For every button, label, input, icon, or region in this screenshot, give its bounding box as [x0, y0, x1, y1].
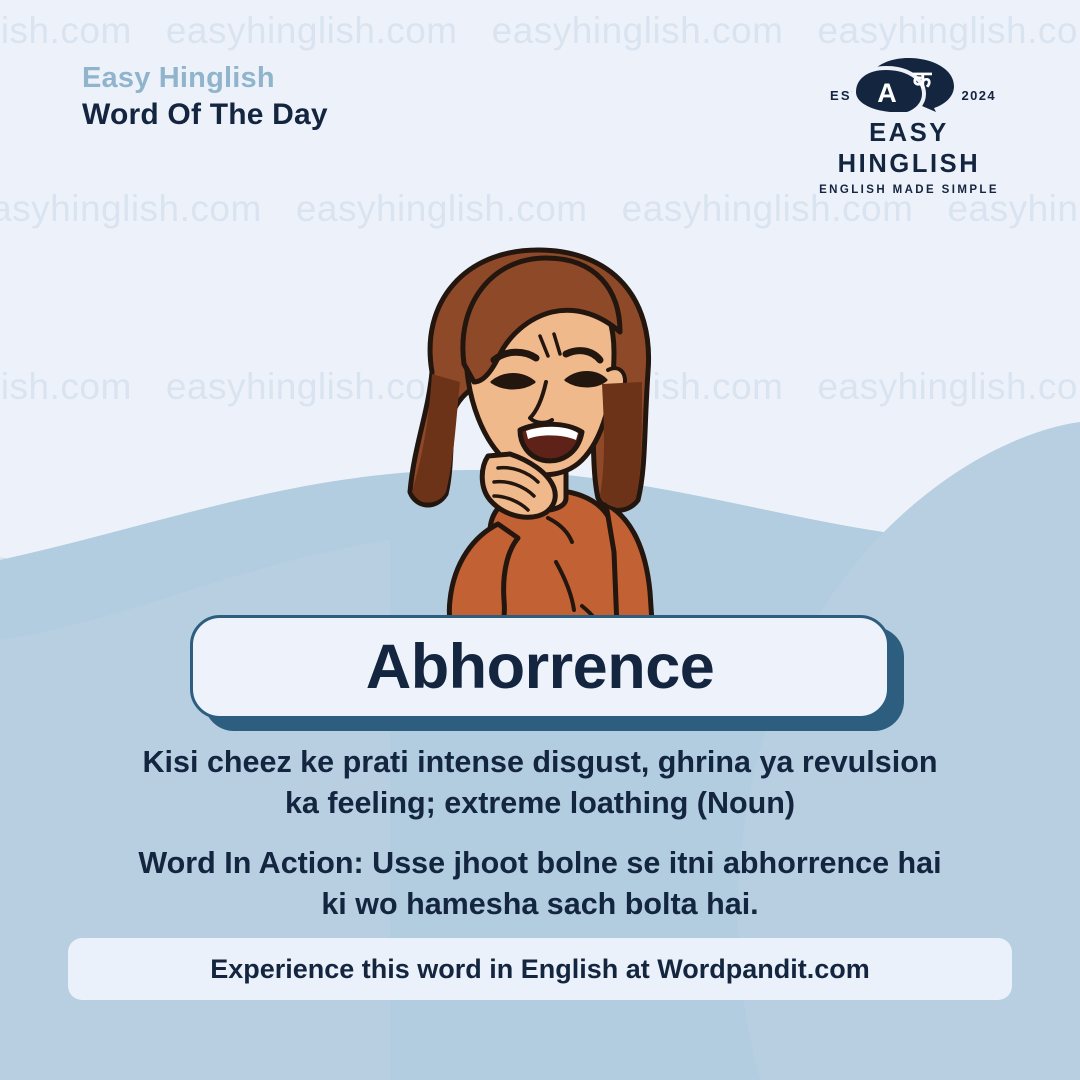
logo-tagline: ENGLISH MADE SIMPLE — [798, 184, 1020, 196]
example-line-2: ki wo hamesha sach bolta hai. — [50, 884, 1030, 925]
logo: ESTD 2024 A क EASY HINGLISH ENGLISH MADE… — [798, 58, 1020, 196]
cta-label: Experience this word in English at Wordp… — [210, 954, 870, 985]
illustration-woman-disgust — [370, 232, 710, 652]
word-card: Abhorrence — [190, 615, 890, 725]
definition-block: Kisi cheez ke prati intense disgust, ghr… — [50, 742, 1030, 823]
word-card-face: Abhorrence — [190, 615, 890, 719]
logo-name: EASY HINGLISH — [798, 118, 1020, 179]
bubble-right-letter: क — [912, 66, 933, 94]
speech-bubbles-icon: A क — [850, 54, 968, 112]
poster-root: easyhinglish.comeasyhinglish.comeasyhing… — [0, 0, 1080, 1080]
definition-line-1: Kisi cheez ke prati intense disgust, ghr… — [50, 742, 1030, 783]
brand-block: Easy Hinglish Word Of The Day — [82, 62, 328, 136]
word-of-the-day: Abhorrence — [366, 631, 715, 703]
definition-line-2: ka feeling; extreme loathing (Noun) — [50, 783, 1030, 824]
poster-header: Easy Hinglish Word Of The Day ESTD 2024 … — [0, 0, 1080, 180]
example-line-1: Word In Action: Usse jhoot bolne se itni… — [50, 843, 1030, 884]
example-block: Word In Action: Usse jhoot bolne se itni… — [50, 843, 1030, 924]
logo-mark: ESTD 2024 A क — [798, 58, 1020, 116]
brand-title: Easy Hinglish — [82, 62, 328, 95]
eye-right — [566, 373, 606, 387]
page-title: Word Of The Day — [82, 95, 328, 136]
eye-left — [492, 375, 534, 389]
hair-strand-right — [600, 382, 642, 508]
bubble-left-letter: A — [877, 78, 897, 108]
cta-banner[interactable]: Experience this word in English at Wordp… — [68, 938, 1012, 1000]
